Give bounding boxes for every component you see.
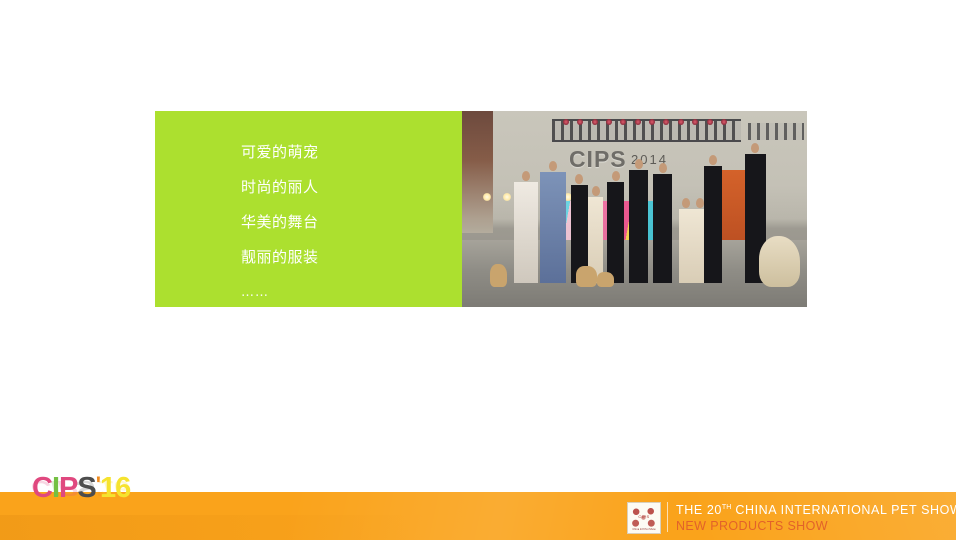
photo-models <box>462 111 807 307</box>
photo-model-head <box>522 171 530 181</box>
photo-model-head <box>635 159 643 169</box>
logo-letter-s: S <box>77 474 95 503</box>
banner-divider <box>667 502 668 532</box>
photo-model-head <box>592 186 600 196</box>
banner-title-line-1: THE20TH CHINA INTERNATIONAL PET SHOW <box>676 500 956 518</box>
photo-model <box>540 172 566 284</box>
content-panel: 可爱的萌宠 时尚的丽人 华美的舞台 靓丽的服装 …… <box>155 111 462 307</box>
photo-model-head <box>549 161 557 171</box>
photo-dog <box>490 264 507 288</box>
logo-letter-1: 1 <box>100 474 115 503</box>
photo-model <box>514 182 538 284</box>
photo-model-head <box>709 155 717 165</box>
stage-photo: CIPS 2014 <box>462 111 807 307</box>
banner-title-line-2: NEW PRODUCTS SHOW <box>676 518 956 535</box>
photo-model <box>704 166 723 284</box>
photo-model-head <box>682 198 690 208</box>
badge-subtitle: China Int'l Pet Show <box>628 528 660 531</box>
bullet-list: 可爱的萌宠 时尚的丽人 华美的舞台 靓丽的服装 …… <box>241 135 451 307</box>
banner-title-number: 20 <box>707 503 722 517</box>
photo-model <box>607 182 624 284</box>
photo-model-head <box>659 163 667 173</box>
bullet-line-3: 华美的舞台 <box>241 205 451 240</box>
bullet-line-ellipsis: …… <box>241 275 451 307</box>
photo-dog <box>597 272 614 288</box>
photo-model <box>653 174 672 284</box>
cips-badge-icon: CIPS China Int'l Pet Show <box>627 502 661 534</box>
cips-logo: CIPS'16 <box>32 474 130 503</box>
banner-text-block: THE20TH CHINA INTERNATIONAL PET SHOW NEW… <box>676 500 956 535</box>
logo-letter-p: P <box>59 474 77 503</box>
photo-model-head <box>751 143 759 153</box>
banner-title-rest: CHINA INTERNATIONAL PET SHOW <box>735 503 960 517</box>
logo-letter-i: I <box>52 474 59 503</box>
photo-model <box>679 209 693 283</box>
photo-dog <box>759 236 800 287</box>
logo-letter-6: 6 <box>115 474 130 503</box>
photo-dog <box>576 266 597 288</box>
bullet-line-2: 时尚的丽人 <box>241 170 451 205</box>
bullet-line-1: 可爱的萌宠 <box>241 135 451 170</box>
banner-title-ordinal: TH <box>722 504 731 511</box>
photo-model-head <box>612 171 620 181</box>
badge-word: CIPS <box>628 514 660 519</box>
bullet-line-4: 靓丽的服装 <box>241 240 451 275</box>
logo-letter-c: C <box>32 474 52 503</box>
slide-canvas: 可爱的萌宠 时尚的丽人 华美的舞台 靓丽的服装 …… CIPS 2014 <box>0 0 960 540</box>
banner-title-prefix: THE <box>676 503 703 517</box>
photo-model <box>629 170 648 284</box>
photo-model-head <box>575 174 583 184</box>
